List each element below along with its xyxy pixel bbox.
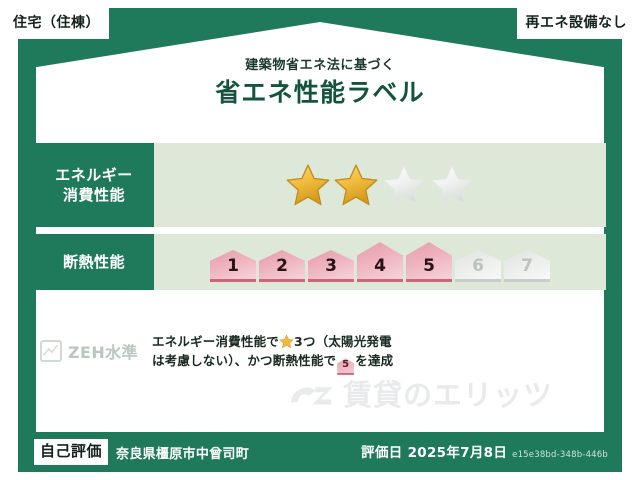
insulation-grade-number: 1 [227,258,239,282]
energy-label-line1: エネルギー [55,165,133,185]
renewable-energy-tag: 再エネ設備なし [517,8,637,39]
title-block: 建築物省エネ法に基づく 省エネ性能ラベル [0,58,640,107]
description-part4: を達成 [355,353,393,368]
evaluation-date-label: 評価日 [361,445,402,461]
insulation-performance-label: 断熱性能 [34,234,154,290]
zeh-standard-badge: ZEH水準 [34,332,152,363]
description-part3: は考慮しない）、かつ断熱性能で [152,353,336,368]
insulation-grade-number: 3 [325,258,337,282]
energy-label-line2: 消費性能 [63,185,125,205]
performance-rows: エネルギー 消費性能 断熱性能 1234567 [34,143,606,297]
property-address: 奈良県橿原市中曾司町 [116,443,249,462]
energy-performance-value [154,143,606,227]
energy-performance-row: エネルギー 消費性能 [34,143,606,227]
star-empty-icon [381,162,427,208]
insulation-grade-3: 3 [308,250,354,282]
achievement-description: エネルギー消費性能で 3つ（太陽光発電 は考慮しない）、かつ断熱性能で5を達成 [152,332,606,375]
description-part1: エネルギー消費性能で [152,334,279,349]
footer-right-block: 評価日 2025年7月8日 e15e38bd-348b-446b [361,442,608,462]
star-filled-icon [285,162,331,208]
insulation-grade-number: 4 [374,258,386,282]
insulation-grade-number: 5 [423,258,435,282]
star-filled-icon [333,162,379,208]
insulation-grade-number: 2 [276,258,288,282]
insulation-grade-number: 6 [472,258,484,282]
document-id: e15e38bd-348b-446b [512,450,608,460]
title-main: 省エネ性能ラベル [0,79,640,108]
self-evaluation-badge: 自己評価 [34,439,108,465]
zeh-label: ZEH水準 [68,339,138,363]
insulation-grade-2: 2 [259,250,305,282]
footer-bar: 自己評価 奈良県橿原市中曾司町 評価日 2025年7月8日 e15e38bd-3… [18,432,622,472]
description-grade-chip: 5 [337,358,354,375]
title-subtitle: 建築物省エネ法に基づく [0,58,640,74]
description-area: ZEH水準 エネルギー消費性能で 3つ（太陽光発電 は考慮しない）、かつ断熱性能… [34,332,606,375]
evaluation-date: 評価日 2025年7月8日 [361,445,512,461]
star-empty-icon [429,162,475,208]
inline-star-icon [279,334,294,349]
insulation-grade-scale: 1234567 [210,242,550,282]
insulation-grade-5: 5 [406,242,452,282]
energy-performance-label: 住宅（住棟） 再エネ設備なし 建築物省エネ法に基づく 省エネ性能ラベル エネルギ… [0,0,640,480]
building-type-tag: 住宅（住棟） [4,8,109,39]
insulation-label-text: 断熱性能 [63,252,125,272]
insulation-grade-1: 1 [210,250,256,282]
insulation-performance-row: 断熱性能 1234567 [34,234,606,290]
evaluation-date-value: 2025年7月8日 [408,445,508,461]
insulation-performance-value: 1234567 [154,234,606,290]
insulation-grade-number: 7 [521,258,533,282]
insulation-grade-7: 7 [504,250,550,282]
energy-performance-label: エネルギー 消費性能 [34,143,154,227]
description-part2: 3つ（太陽光発電 [294,334,392,349]
star-rating [285,162,475,208]
insulation-grade-4: 4 [357,242,403,282]
zeh-icon [40,340,62,362]
insulation-grade-6: 6 [455,250,501,282]
